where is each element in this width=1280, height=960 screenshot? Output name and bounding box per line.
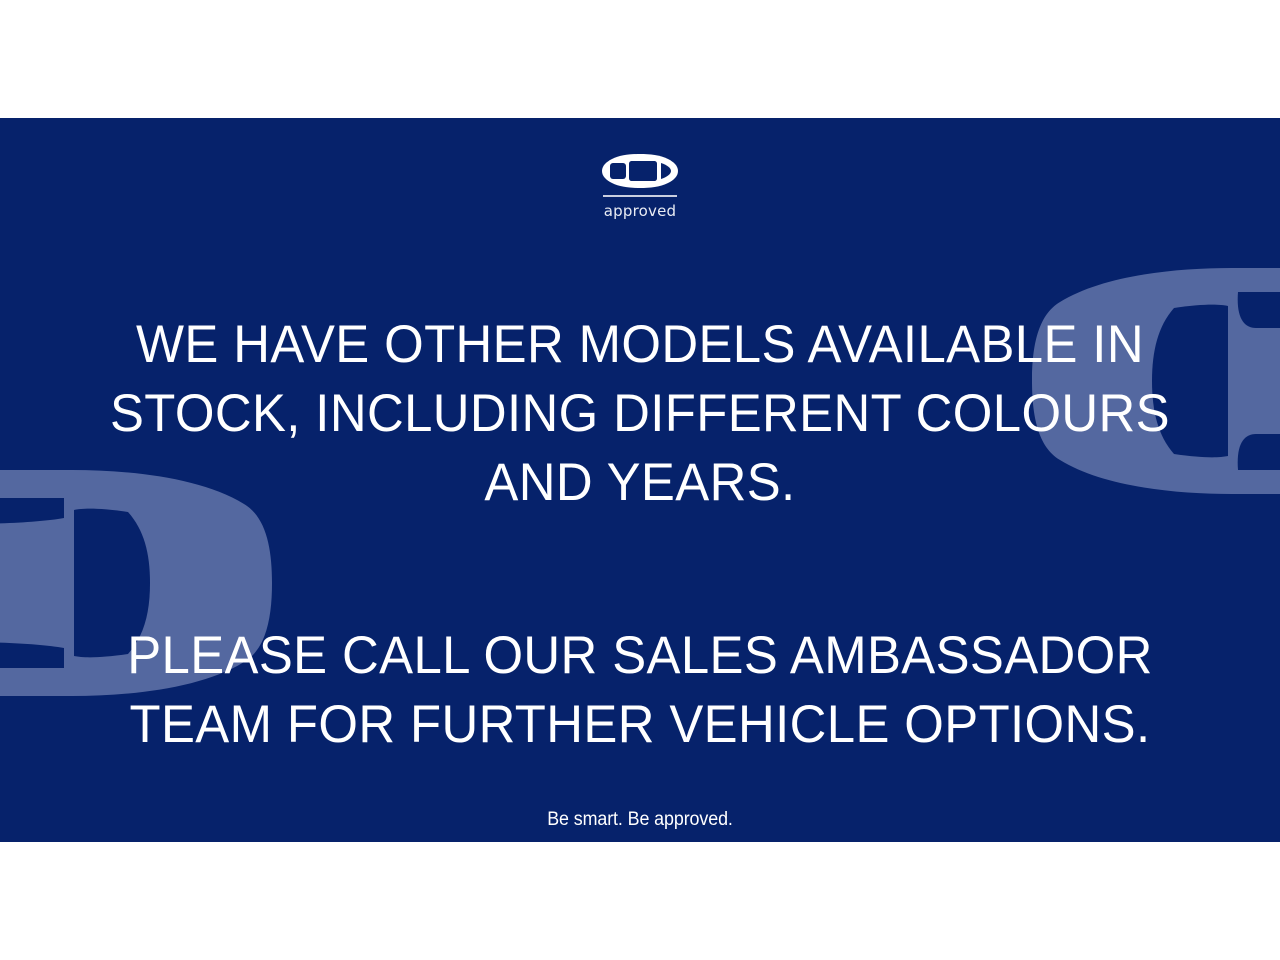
brand-lockup: approved	[0, 154, 1280, 220]
brand-divider	[603, 195, 677, 197]
message-block: WE HAVE OTHER MODELS AVAILABLE IN STOCK,…	[0, 310, 1280, 831]
brand-wordmark: approved	[604, 202, 676, 220]
brand-tagline: Be smart. Be approved.	[91, 809, 1189, 831]
headline-primary: WE HAVE OTHER MODELS AVAILABLE IN STOCK,…	[79, 310, 1200, 517]
headline-secondary: PLEASE CALL OUR SALES AMBASSADOR TEAM FO…	[79, 621, 1200, 759]
car-top-view-icon	[602, 154, 678, 188]
slide-canvas: approved WE HAVE OTHER MODELS AVAILABLE …	[0, 0, 1280, 960]
promo-banner: approved WE HAVE OTHER MODELS AVAILABLE …	[0, 118, 1280, 842]
